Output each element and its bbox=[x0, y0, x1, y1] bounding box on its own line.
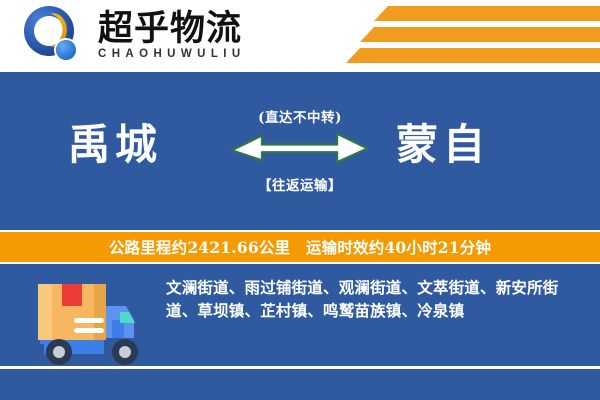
route-band: 禹城 (直达不中转) 【往返运输】 蒙自 bbox=[0, 72, 600, 230]
route-middle-group: (直达不中转) 【往返运输】 bbox=[224, 106, 376, 194]
round-trip-note: 【往返运输】 bbox=[224, 174, 376, 194]
orange-speed-stripes-icon bbox=[300, 6, 600, 68]
brand-block: 超乎物流 CHAOHUWULIU bbox=[22, 4, 246, 68]
logo-dot-shape bbox=[56, 40, 76, 60]
brand-text-group: 超乎物流 CHAOHUWULIU bbox=[98, 11, 246, 61]
delivery-truck-icon bbox=[16, 276, 164, 374]
circle-crescent-logo-icon bbox=[22, 4, 86, 68]
coverage-areas-text: 文澜街道、雨过铺街道、观澜街道、文萃街道、新安所街道、草坝镇、芷村镇、鸣鹫苗族镇… bbox=[166, 276, 584, 322]
destination-city: 蒙自 bbox=[396, 124, 490, 166]
brand-name-en: CHAOHUWULIU bbox=[98, 49, 246, 61]
distance-duration-banner: 公路里程约2421.66公里 运输时效约40小时21分钟 bbox=[0, 230, 600, 264]
double-headed-arrow-icon bbox=[228, 131, 371, 163]
coverage-section: 文澜街道、雨过铺街道、观澜街道、文萃街道、新安所街道、草坝镇、芷村镇、鸣鹫苗族镇… bbox=[0, 264, 600, 400]
footer-divider-line bbox=[0, 366, 600, 369]
brand-name-cn: 超乎物流 bbox=[98, 11, 246, 46]
distance-duration-text: 公路里程约2421.66公里 运输时效约40小时21分钟 bbox=[109, 236, 491, 258]
direct-service-note: (直达不中转) bbox=[224, 106, 376, 126]
origin-city: 禹城 bbox=[68, 124, 162, 166]
logistics-route-poster: 超乎物流 CHAOHUWULIU 禹城 (直达不中转) 【往返运输】 蒙自 公路… bbox=[0, 0, 600, 400]
poster-header: 超乎物流 CHAOHUWULIU bbox=[0, 0, 600, 72]
